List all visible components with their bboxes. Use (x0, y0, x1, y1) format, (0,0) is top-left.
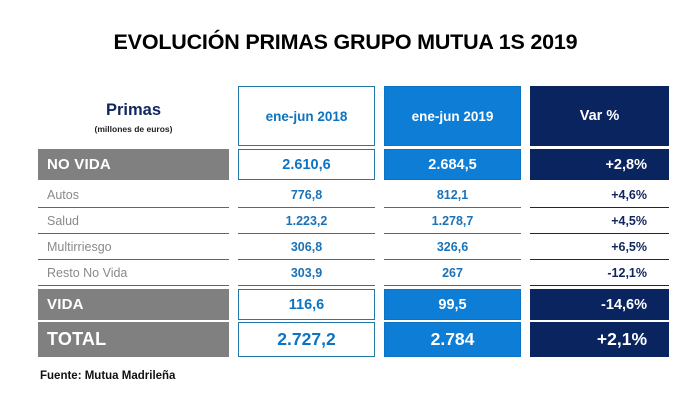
vida-2019-value: 99,5 (384, 289, 521, 320)
cell-gap (521, 260, 530, 286)
cell-gap (229, 182, 238, 208)
resto-2018-value: 303,9 (238, 260, 375, 286)
cell-gap (375, 149, 384, 180)
total-2018-value: 2.727,2 (238, 322, 375, 357)
cell-gap (229, 234, 238, 260)
page-title: EVOLUCIÓN PRIMAS GRUPO MUTUA 1S 2019 (0, 30, 691, 55)
salud-2019-value: 1.278,7 (384, 208, 521, 234)
row-label-autos: Autos (38, 182, 229, 208)
multirriesgo-2019-value: 326,6 (384, 234, 521, 260)
salud-var-value: +4,5% (530, 208, 669, 234)
autos-2018-value: 776,8 (238, 182, 375, 208)
header-primas-subtitle: (millones de euros) (95, 124, 173, 134)
cell-gap (375, 322, 384, 357)
cell-gap (229, 289, 238, 320)
header-col-var: Var % (530, 86, 669, 146)
vida-var-value: -14,6% (530, 289, 669, 320)
cell-gap (521, 234, 530, 260)
cell-gap (229, 322, 238, 357)
header-spacer-3 (521, 86, 530, 146)
table-row-vida: VIDA 116,6 99,5 -14,6% (38, 289, 665, 320)
cell-gap (521, 149, 530, 180)
table-header-row: Primas (millones de euros) ene-jun 2018 … (38, 86, 665, 146)
row-label-total: TOTAL (38, 322, 229, 357)
cell-gap (521, 322, 530, 357)
header-spacer-2 (375, 86, 384, 146)
resto-var-value: -12,1% (530, 260, 669, 286)
cell-gap (521, 208, 530, 234)
header-col-2018: ene-jun 2018 (238, 86, 375, 146)
cell-gap (375, 182, 384, 208)
no-vida-var-value: +2,8% (530, 149, 669, 180)
row-label-no-vida: NO VIDA (38, 149, 229, 180)
cell-gap (375, 260, 384, 286)
cell-gap (375, 234, 384, 260)
table-row-salud: Salud 1.223,2 1.278,7 +4,5% (38, 208, 665, 234)
autos-var-value: +4,6% (530, 182, 669, 208)
table-row-total: TOTAL 2.727,2 2.784 +2,1% (38, 322, 665, 357)
cell-gap (521, 182, 530, 208)
row-label-resto-no-vida: Resto No Vida (38, 260, 229, 286)
row-label-multirriesgo: Multirriesgo (38, 234, 229, 260)
vida-2018-value: 116,6 (238, 289, 375, 320)
resto-2019-value: 267 (384, 260, 521, 286)
salud-2018-value: 1.223,2 (238, 208, 375, 234)
table-row-multirriesgo: Multirriesgo 306,8 326,6 +6,5% (38, 234, 665, 260)
source-note: Fuente: Mutua Madrileña (40, 370, 175, 382)
slide: EVOLUCIÓN PRIMAS GRUPO MUTUA 1S 2019 Pri… (0, 0, 691, 404)
autos-2019-value: 812,1 (384, 182, 521, 208)
total-var-value: +2,1% (530, 322, 669, 357)
cell-gap (229, 208, 238, 234)
cell-gap (229, 260, 238, 286)
cell-gap (375, 289, 384, 320)
multirriesgo-var-value: +6,5% (530, 234, 669, 260)
no-vida-2018-value: 2.610,6 (238, 149, 375, 180)
no-vida-2019-value: 2.684,5 (384, 149, 521, 180)
header-label-cell: Primas (millones de euros) (38, 86, 229, 146)
table-row-no-vida: NO VIDA 2.610,6 2.684,5 +2,8% (38, 149, 665, 180)
primas-table: Primas (millones de euros) ene-jun 2018 … (38, 86, 665, 359)
header-spacer (229, 86, 238, 146)
total-2019-value: 2.784 (384, 322, 521, 357)
multirriesgo-2018-value: 306,8 (238, 234, 375, 260)
header-primas-title: Primas (106, 102, 161, 119)
table-row-resto-no-vida: Resto No Vida 303,9 267 -12,1% (38, 260, 665, 286)
table-row-autos: Autos 776,8 812,1 +4,6% (38, 182, 665, 208)
cell-gap (229, 149, 238, 180)
cell-gap (375, 208, 384, 234)
row-label-vida: VIDA (38, 289, 229, 320)
row-label-salud: Salud (38, 208, 229, 234)
header-col-2019: ene-jun 2019 (384, 86, 521, 146)
cell-gap (521, 289, 530, 320)
